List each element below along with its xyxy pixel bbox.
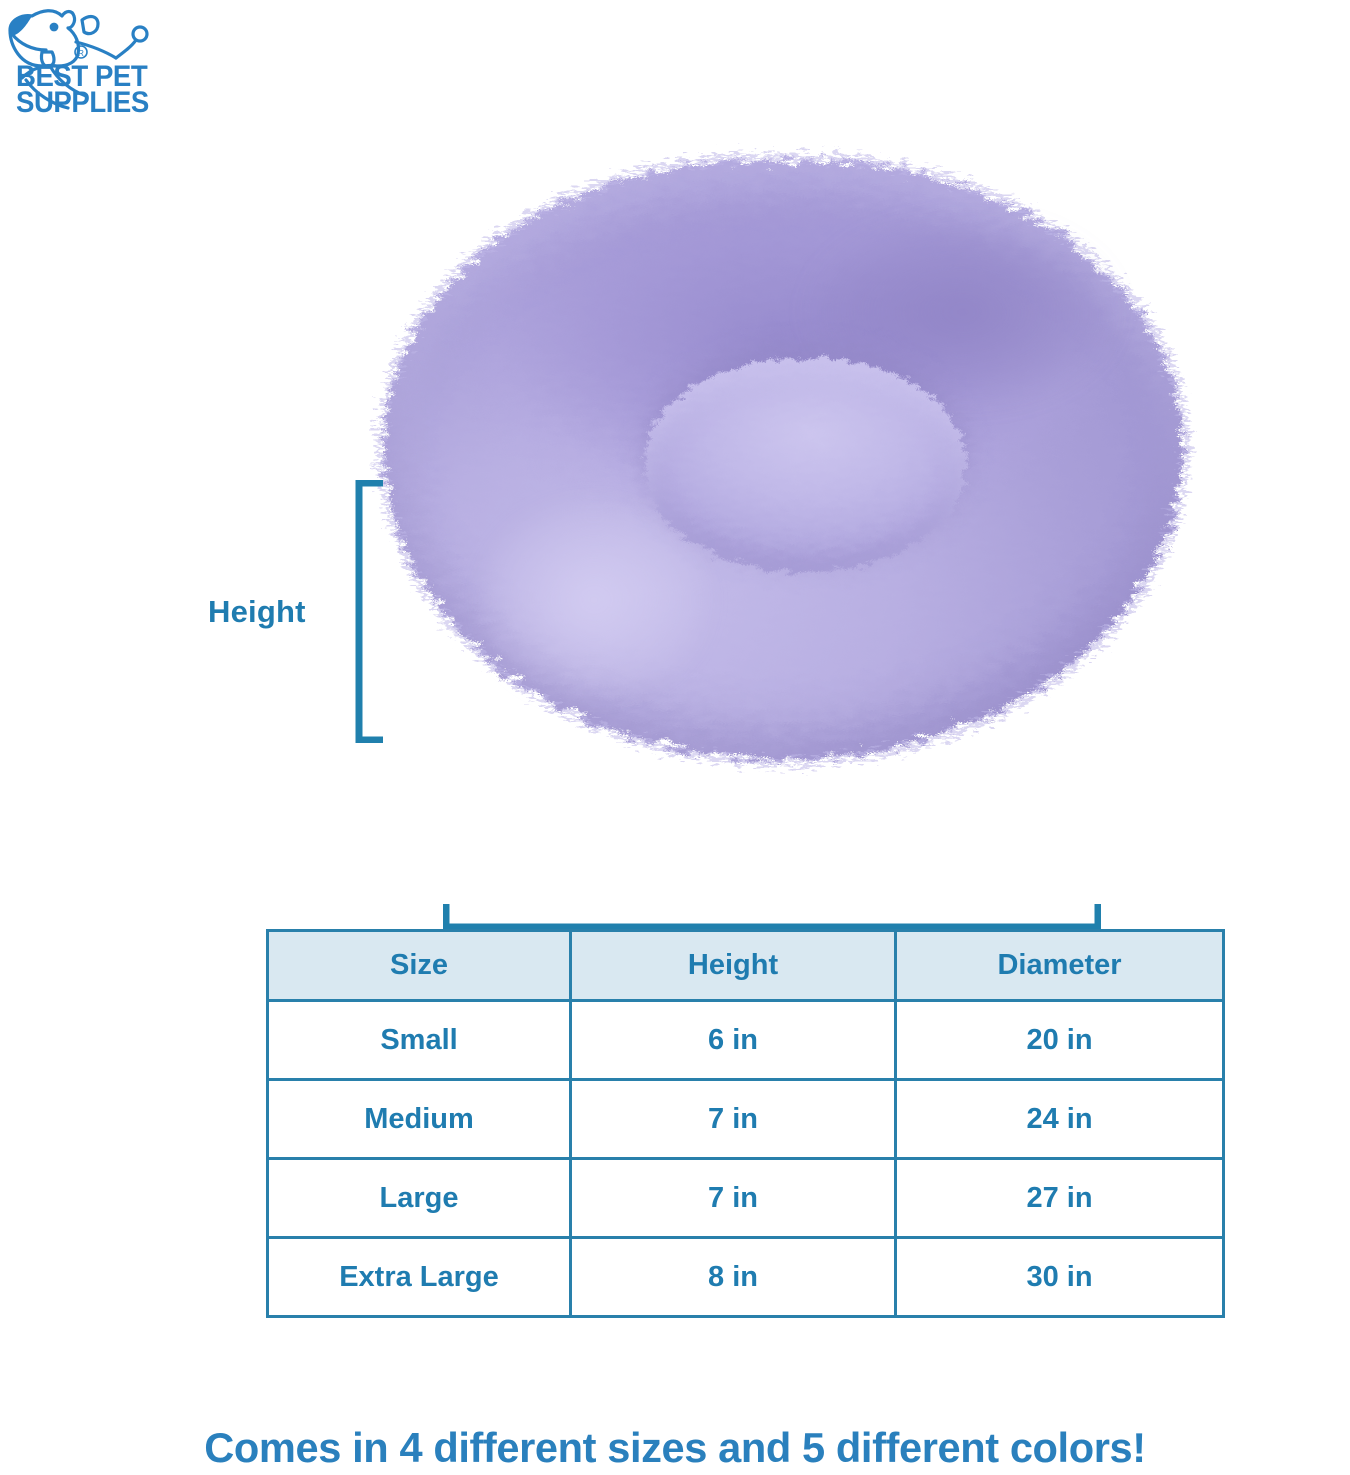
cell-height: 8 in xyxy=(571,1238,896,1317)
column-header-diameter: Diameter xyxy=(896,931,1224,1001)
horizontal-bracket-icon xyxy=(443,902,1101,932)
cell-size: Extra Large xyxy=(268,1238,571,1317)
vertical-bracket-icon xyxy=(355,480,385,743)
table-row: Small 6 in 20 in xyxy=(268,1001,1224,1080)
table-row: Large 7 in 27 in xyxy=(268,1159,1224,1238)
cell-size: Medium xyxy=(268,1080,571,1159)
bed-inner-cushion xyxy=(645,358,965,572)
column-header-height: Height xyxy=(571,931,896,1001)
table-row: Extra Large 8 in 30 in xyxy=(268,1238,1224,1317)
cell-height: 6 in xyxy=(571,1001,896,1080)
table-row: Medium 7 in 24 in xyxy=(268,1080,1224,1159)
cell-diameter: 20 in xyxy=(896,1001,1224,1080)
size-chart-table: Size Height Diameter Small 6 in 20 in Me… xyxy=(266,929,1225,1318)
svg-text:R: R xyxy=(78,49,84,58)
cell-height: 7 in xyxy=(571,1159,896,1238)
pet-bed-image xyxy=(383,160,1183,760)
cell-size: Small xyxy=(268,1001,571,1080)
cell-diameter: 30 in xyxy=(896,1238,1224,1317)
product-illustration: Height Diameter xyxy=(0,150,1350,790)
column-header-size: Size xyxy=(268,931,571,1001)
brand-name-line2: SUPPLIES xyxy=(16,90,149,116)
brand-logo[interactable]: R BEST PET SUPPLIES xyxy=(6,4,158,130)
cell-diameter: 24 in xyxy=(896,1080,1224,1159)
cell-height: 7 in xyxy=(571,1080,896,1159)
brand-wordmark: BEST PET SUPPLIES xyxy=(16,64,149,116)
table-header-row: Size Height Diameter xyxy=(268,931,1224,1001)
tagline-text: Comes in 4 different sizes and 5 differe… xyxy=(7,1424,1344,1472)
cell-diameter: 27 in xyxy=(896,1159,1224,1238)
height-annotation-label: Height xyxy=(208,594,306,630)
cell-size: Large xyxy=(268,1159,571,1238)
